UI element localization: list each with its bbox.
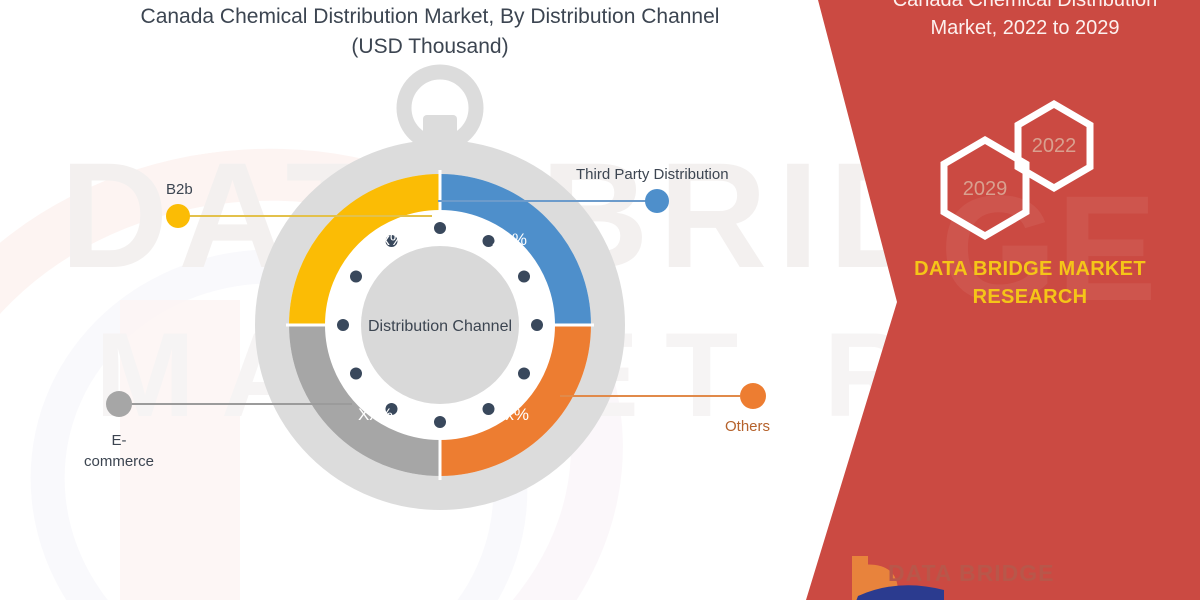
callout-label-third-party: Third Party Distribution (576, 166, 729, 183)
databridge-logo-text: DATA BRIDGE (888, 560, 1054, 587)
callout-dot-b2b[interactable] (166, 204, 190, 228)
infographic-canvas: DATA BRIDGE MARKET RESEARCH Canada Chemi… (0, 0, 1200, 600)
red-panel-title-line-2: Market, 2022 to 2029 (860, 14, 1190, 42)
brand-line-2: RESEARCH (880, 283, 1180, 311)
callout-label-b2b: B2b (166, 181, 193, 198)
callout-label-ecommerce-line2: commerce (84, 453, 154, 470)
callout-label-others: Others (725, 418, 770, 435)
red-panel-title: Canada Chemical Distribution Market, 202… (860, 0, 1190, 42)
callout-dot-others[interactable] (740, 383, 766, 409)
callout-dot-ecommerce[interactable] (106, 391, 132, 417)
callout-label-ecommerce-line1: E- (112, 432, 127, 449)
callout-dot-third-party[interactable] (645, 189, 669, 213)
brand-line-1: DATA BRIDGE MARKET (880, 255, 1180, 283)
brand-name: DATA BRIDGE MARKET RESEARCH (880, 255, 1180, 311)
red-panel-title-line-1: Canada Chemical Distribution (860, 0, 1190, 14)
callout-label-ecommerce: E- commerce (64, 430, 174, 472)
